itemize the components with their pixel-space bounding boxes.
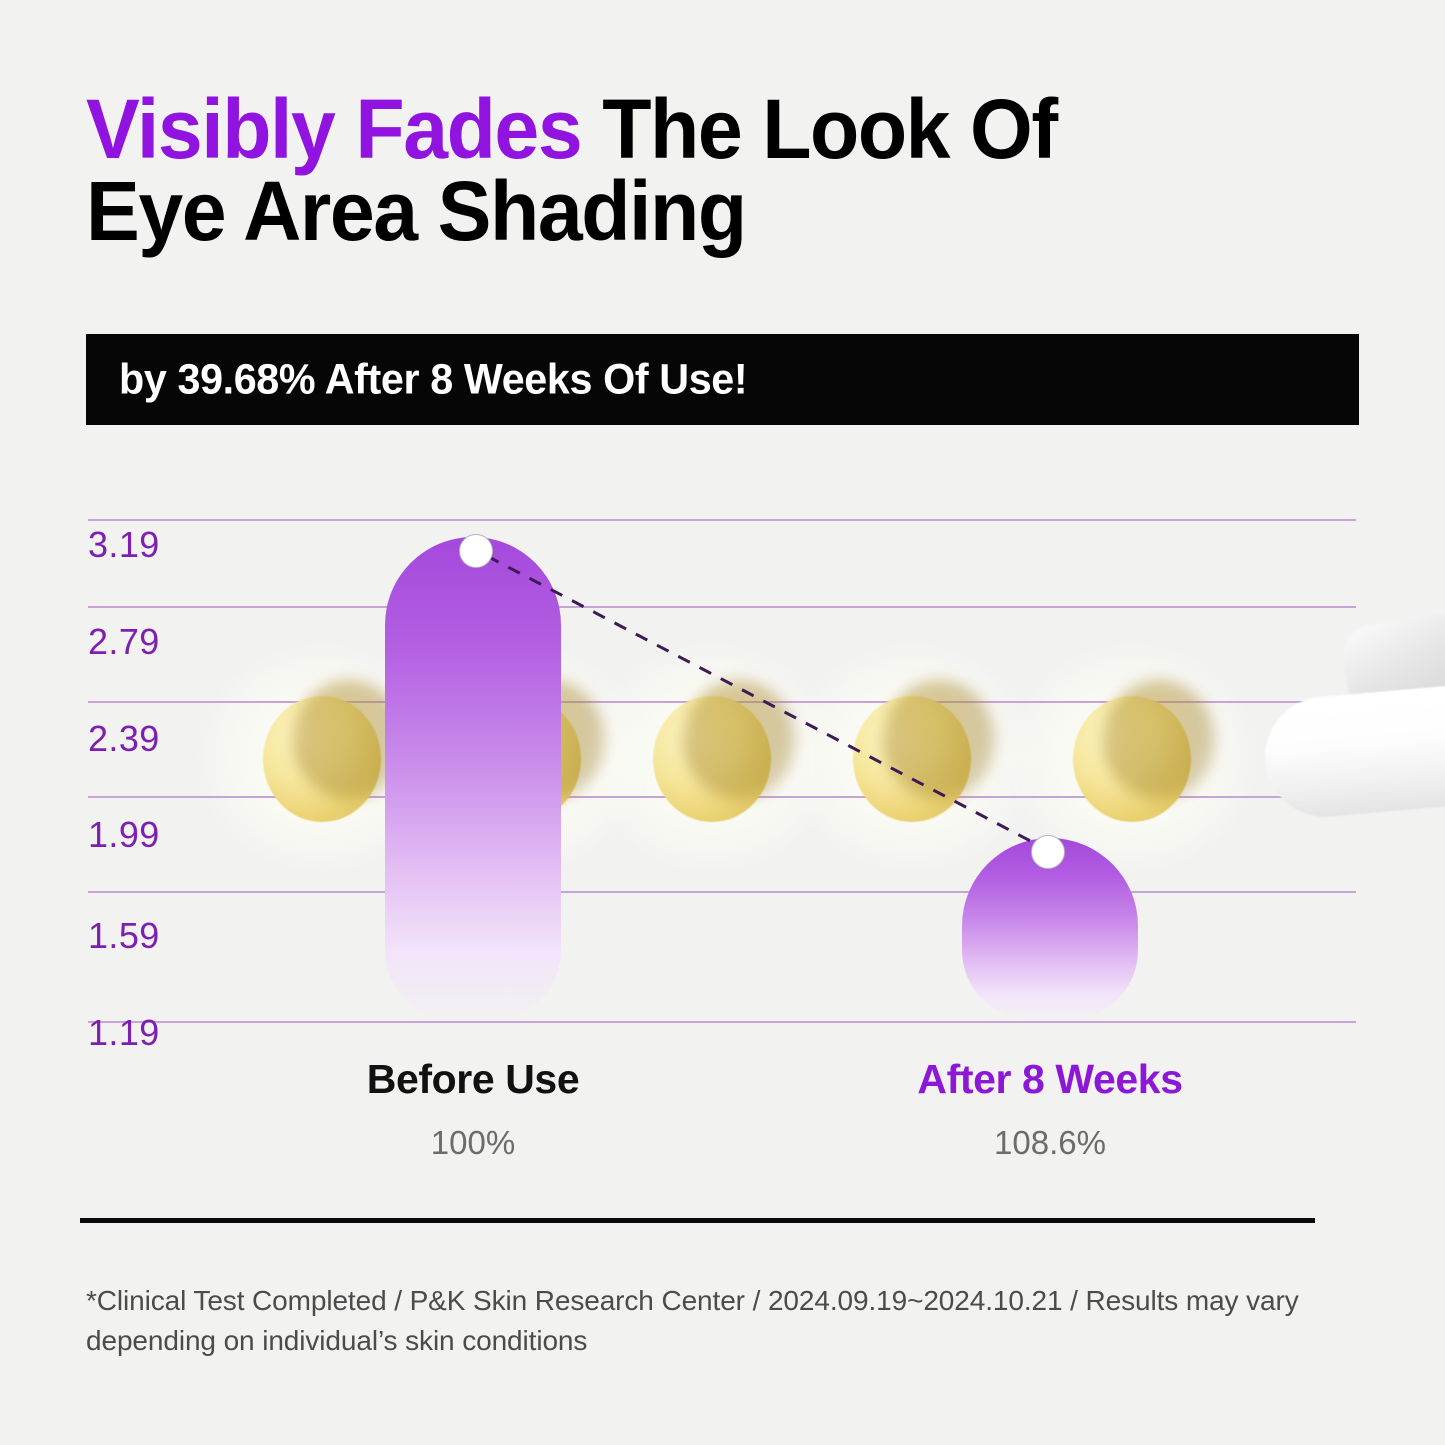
gridline: [88, 891, 1356, 893]
headline-line-1: Visibly Fades The Look Of: [86, 88, 1238, 170]
headline-line-2: Eye Area Shading: [86, 170, 1238, 252]
gridline: [88, 519, 1356, 521]
footnote-text: *Clinical Test Completed / P&K Skin Rese…: [86, 1281, 1311, 1361]
bar-after-8-weeks: [962, 838, 1138, 1020]
y-axis-tick-label: 1.99: [88, 814, 160, 856]
product-image: [1255, 600, 1445, 900]
x-axis-label-after-8-weeks: After 8 Weeks: [860, 1056, 1240, 1103]
product-body: [1260, 682, 1445, 822]
decorative-sphere: [463, 696, 581, 822]
y-axis-tick-label: 1.59: [88, 915, 160, 957]
decorative-sphere: [263, 696, 381, 822]
x-axis-percent-after-8-weeks: 108.6%: [860, 1124, 1240, 1162]
gridline: [88, 796, 1356, 798]
headline-accent: Visibly Fades: [86, 82, 581, 176]
x-axis-percent-before-use: 100%: [283, 1124, 663, 1162]
data-point-marker-before: [459, 534, 493, 568]
x-axis-label-before-use: Before Use: [283, 1056, 663, 1103]
sphere-glow: [1007, 643, 1257, 873]
gridline: [88, 1021, 1356, 1023]
data-point-marker-after: [1031, 835, 1065, 869]
bar-before-use: [385, 537, 561, 1020]
y-axis-tick-label: 1.19: [88, 1012, 160, 1054]
gridline: [88, 606, 1356, 608]
y-axis-tick-label: 2.39: [88, 718, 160, 760]
sphere-glow: [587, 643, 837, 873]
highlight-banner: by 39.68% After 8 Weeks Of Use!: [86, 334, 1359, 425]
infographic-canvas: Visibly Fades The Look Of Eye Area Shadi…: [0, 0, 1445, 1445]
decorative-sphere: [653, 696, 771, 822]
decorative-sphere: [1073, 696, 1191, 822]
footer-divider: [80, 1218, 1315, 1223]
decorative-sphere: [853, 696, 971, 822]
y-axis-tick-label: 3.19: [88, 524, 160, 566]
y-axis-tick-label: 2.79: [88, 621, 160, 663]
gridline: [88, 701, 1356, 703]
sphere-glow: [397, 643, 647, 873]
page-title: Visibly Fades The Look Of Eye Area Shadi…: [86, 88, 1238, 253]
sphere-glow: [197, 643, 447, 873]
sphere-glow: [787, 643, 1037, 873]
highlight-banner-text: by 39.68% After 8 Weeks Of Use!: [119, 355, 747, 404]
headline-rest: The Look Of: [581, 82, 1057, 176]
